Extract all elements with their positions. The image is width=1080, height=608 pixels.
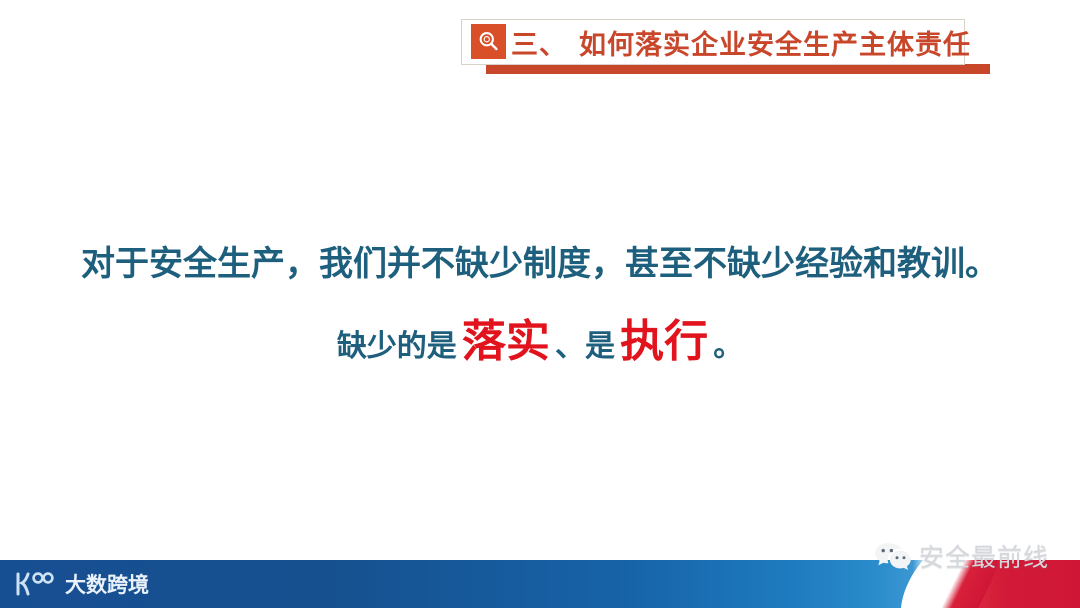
magnifier-search-icon bbox=[471, 24, 506, 59]
body-line-2: 缺少的是 落实 、是 执行 。 bbox=[0, 310, 1080, 383]
body-line-1: 对于安全生产，我们并不缺少制度，甚至不缺少经验和教训。 bbox=[0, 236, 1080, 292]
slide-canvas: 三、 如何落实企业安全生产主体责任 对于安全生产，我们并不缺少制度，甚至不缺少经… bbox=[0, 0, 1080, 608]
dashukuajing-logo-icon bbox=[14, 571, 58, 597]
footer-left-brand-name: 大数跨境 bbox=[65, 569, 149, 599]
footer-left-brand[interactable]: 大数跨境 bbox=[14, 569, 149, 599]
footer-right-brand-name: 安全最前线 bbox=[919, 538, 1049, 574]
slide-body: 对于安全生产，我们并不缺少制度，甚至不缺少经验和教训。 缺少的是 落实 、是 执… bbox=[0, 236, 1080, 383]
section-title-underbar bbox=[486, 64, 990, 74]
body-line-2-part-1: 缺少的是 bbox=[337, 329, 457, 364]
body-line-2-emphasis-1: 落实 bbox=[462, 316, 550, 367]
section-title-label: 如何落实企业安全生产主体责任 bbox=[579, 23, 971, 62]
page-title: 三、 如何落实企业安全生产主体责任 bbox=[511, 22, 971, 62]
section-title-block: 三、 如何落实企业安全生产主体责任 bbox=[461, 19, 990, 71]
section-number: 三、 bbox=[511, 23, 567, 62]
body-line-2-part-2: 、是 bbox=[555, 329, 615, 364]
body-line-2-emphasis-2: 执行 bbox=[620, 316, 708, 367]
footer-right-brand[interactable]: 安全最前线 bbox=[873, 537, 1049, 575]
wechat-icon bbox=[873, 540, 911, 572]
body-line-2-part-3: 。 bbox=[713, 329, 743, 364]
